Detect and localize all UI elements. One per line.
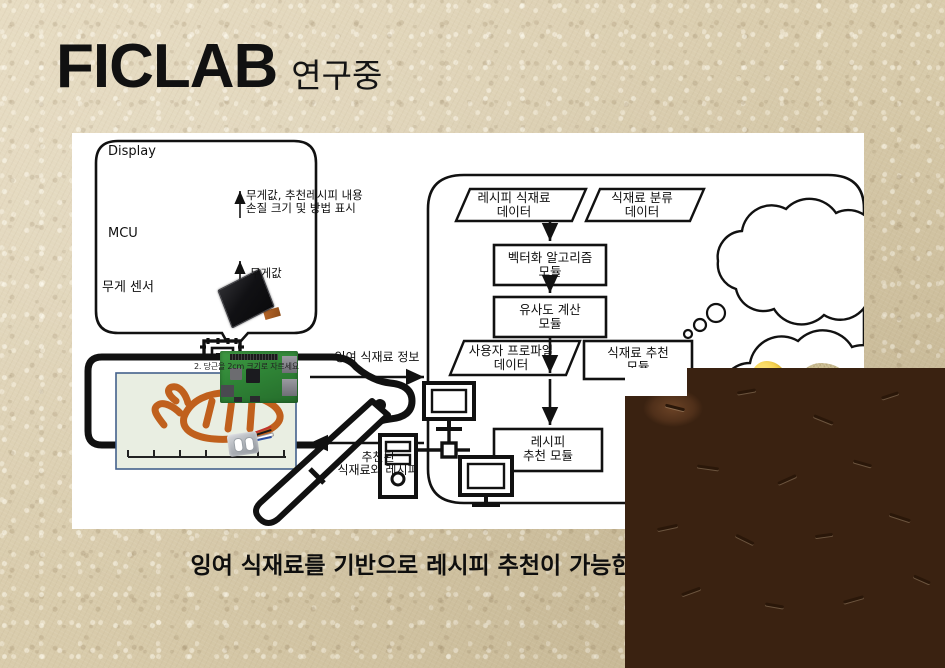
panel-corner-overlap [625,368,687,396]
pi-usb-port-bottom [282,379,297,396]
label-mcu: MCU [108,227,188,242]
label-arrow-to-server: 잉여 식재료 정보 [314,351,440,364]
label-display-arrow: 무게값, 추천레시피 내용 손질 크기 및 방법 표시 [246,189,382,215]
pi-hdmi-port [250,396,260,402]
page-title: FICLAB [56,36,277,98]
label-recipe-recommend-module: 레시피 추천 모듈 [494,435,602,463]
label-similarity-module: 유사도 계산 모듈 [494,303,606,331]
label-recipe-ingredient-data: 레시피 식재료 데이터 [458,191,570,219]
raspberry-pi-board-photo [220,351,298,403]
label-mcu-arrow: 무게값 [250,267,310,280]
label-ingredient-class-data: 식재료 분류 데이터 [588,191,696,219]
label-weight-sensor: 무게 센서 [102,281,194,296]
label-arrow-to-device: 추천된 식재료와 레시피 [318,451,438,478]
pi-gpio-header [230,354,278,360]
thought-bubble-ingredients [684,199,864,338]
label-display: Display [108,145,188,160]
load-cell-hole-left [233,437,244,452]
slide-canvas: FICLAB 연구중 [0,0,945,668]
coffee-beans-photo [625,368,945,668]
title-block: FICLAB 연구중 [56,36,382,98]
label-vectorize-module: 벡터화 알고리즘 모듈 [494,251,606,279]
load-cell-hole-right [244,436,255,451]
title-status-label: 연구중 [291,59,382,92]
label-user-profile-data: 사용자 프로파일 데이터 [452,344,570,372]
board-instruction-text: 2. 당근을 2cm 크기로 자르세요 [194,361,299,372]
load-cell-photo [224,425,272,459]
pi-ethernet-port [221,385,234,397]
pi-usb-c-port [234,397,242,402]
lcd-display-photo [220,276,292,336]
